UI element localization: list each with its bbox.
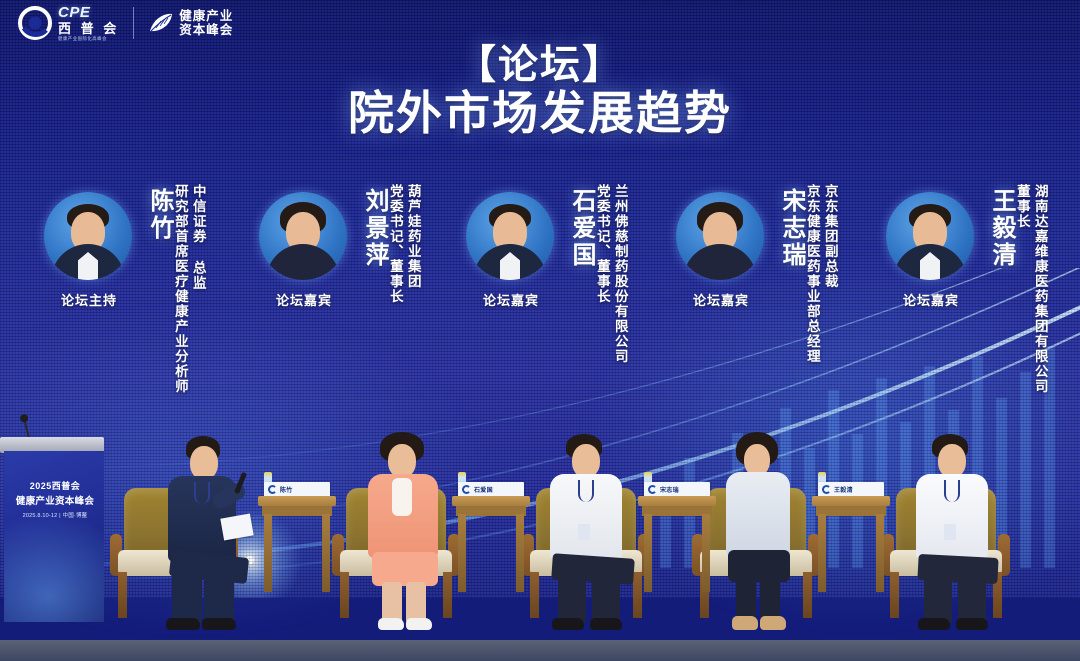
panelist-card-2: 论坛嘉宾 刘景萍 葫芦娃药业集团 党委书记、董事长 <box>245 182 453 432</box>
stage-front-edge <box>0 640 1080 661</box>
event-logo-bar: CPE 西 普 会 健康产业国际化高峰会 健康产业 资本峰会 <box>18 4 233 42</box>
placard-name-3: 宋志瑞 <box>660 485 679 494</box>
panelist-role-2: 论坛嘉宾 <box>245 290 363 309</box>
panelist-titles-5: 湖南达嘉维康医药集团有限公司 董事长 <box>1014 184 1047 394</box>
panelist-role-1: 论坛主持 <box>30 290 148 309</box>
logo-divider <box>133 7 134 39</box>
panelist-title-5-col1: 湖南达嘉维康医药集团有限公司 <box>1032 184 1047 394</box>
panelist-avatar-3 <box>466 192 554 280</box>
panelist-role-4: 论坛嘉宾 <box>662 290 780 309</box>
panelist-avatar-2 <box>259 192 347 280</box>
podium-line1: 2025西普会 <box>12 479 98 492</box>
cpe-logo-subtitle: 健康产业国际化高峰会 <box>58 37 117 41</box>
panelist-title-4-col1: 京东集团副总裁 <box>822 184 837 364</box>
conference-stage-photo: CPE 西 普 会 健康产业国际化高峰会 健康产业 资本峰会 【论坛】 院外市场… <box>0 0 1080 661</box>
panelist-card-3: 论坛嘉宾 石爱国 兰州佛慈制药股份有限公司 党委书记、董事长 <box>452 182 660 432</box>
cpe-circle-icon <box>18 6 52 40</box>
panelist-card-1: 论坛主持 陈竹 中信证券 总监 研究部首席医疗健康产业分析师 <box>30 182 238 432</box>
panelist-avatar-1 <box>44 192 132 280</box>
panelist-titles-4: 京东集团副总裁 京东健康医药事业部总经理 <box>804 184 837 364</box>
panelist-avatar-5 <box>886 192 974 280</box>
panelist-titles-1: 中信证券 总监 研究部首席医疗健康产业分析师 <box>172 184 205 394</box>
side-table-2: 石爱国 <box>452 496 530 592</box>
forum-title-line2: 院外市场发展趋势 <box>0 88 1080 140</box>
name-placard-1: 陈竹 <box>264 482 330 497</box>
cpe-logo-chinese: 西 普 会 <box>58 22 119 35</box>
panelist-card-4: 论坛嘉宾 宋志瑞 京东集团副总裁 京东健康医药事业部总经理 <box>662 182 870 432</box>
cpe-logo-latin: CPE <box>58 5 119 20</box>
placard-name-4: 王毅清 <box>834 485 853 494</box>
panelist-strip: 论坛主持 陈竹 中信证券 总监 研究部首席医疗健康产业分析师 论坛嘉宾 刘景萍 … <box>0 182 1080 432</box>
leaf-icon <box>148 12 174 34</box>
panelist-title-2-col1: 葫芦娃药业集团 <box>405 184 420 304</box>
badge <box>578 524 590 540</box>
podium-line3: 2025.8.10-12 | 中国·博鳌 <box>8 511 102 519</box>
panelist-title-4-col2: 京东健康医药事业部总经理 <box>804 184 819 364</box>
paper-notes <box>220 514 253 541</box>
health-logo-line2: 资本峰会 <box>179 23 233 37</box>
panelist-titles-2: 葫芦娃药业集团 党委书记、董事长 <box>387 184 420 304</box>
cpe-logo: CPE 西 普 会 健康产业国际化高峰会 <box>18 4 119 42</box>
placard-name-2: 石爱国 <box>474 485 493 494</box>
name-placard-2: 石爱国 <box>458 482 524 497</box>
placard-logo-icon <box>822 485 831 494</box>
placard-name-1: 陈竹 <box>280 485 293 494</box>
podium-line2: 健康产业资本峰会 <box>8 493 102 507</box>
name-placard-4: 王毅清 <box>818 482 884 497</box>
panelist-titles-3: 兰州佛慈制药股份有限公司 党委书记、董事长 <box>594 184 627 364</box>
health-summit-logo: 健康产业 资本峰会 <box>148 9 233 37</box>
speaker-podium: 2025西普会 健康产业资本峰会 2025.8.10-12 | 中国·博鳌 <box>0 437 104 622</box>
panelist-title-2-col2: 党委书记、董事长 <box>387 184 402 304</box>
badge <box>944 524 956 540</box>
panelist-title-1-col1: 中信证券 总监 <box>190 184 205 394</box>
forum-title-block: 【论坛】 院外市场发展趋势 <box>0 44 1080 140</box>
name-placard-3: 宋志瑞 <box>644 482 710 497</box>
panelist-title-3-col1: 兰州佛慈制药股份有限公司 <box>612 184 627 364</box>
panelist-title-3-col2: 党委书记、董事长 <box>594 184 609 364</box>
panelist-title-5-col2: 董事长 <box>1014 184 1029 394</box>
panelist-role-5: 论坛嘉宾 <box>872 290 990 309</box>
panelist-title-1-col2: 研究部首席医疗健康产业分析师 <box>172 184 187 394</box>
placard-logo-icon <box>462 485 471 494</box>
forum-title-line1: 【论坛】 <box>0 44 1080 86</box>
side-table-4: 王毅清 <box>812 496 890 592</box>
health-logo-line1: 健康产业 <box>179 9 233 23</box>
panelist-card-5: 论坛嘉宾 王毅清 湖南达嘉维康医药集团有限公司 董事长 <box>872 182 1080 432</box>
panelist-role-3: 论坛嘉宾 <box>452 290 570 309</box>
podium-front-panel: 2025西普会 健康产业资本峰会 2025.8.10-12 | 中国·博鳌 <box>4 451 104 622</box>
panelist-avatar-4 <box>676 192 764 280</box>
